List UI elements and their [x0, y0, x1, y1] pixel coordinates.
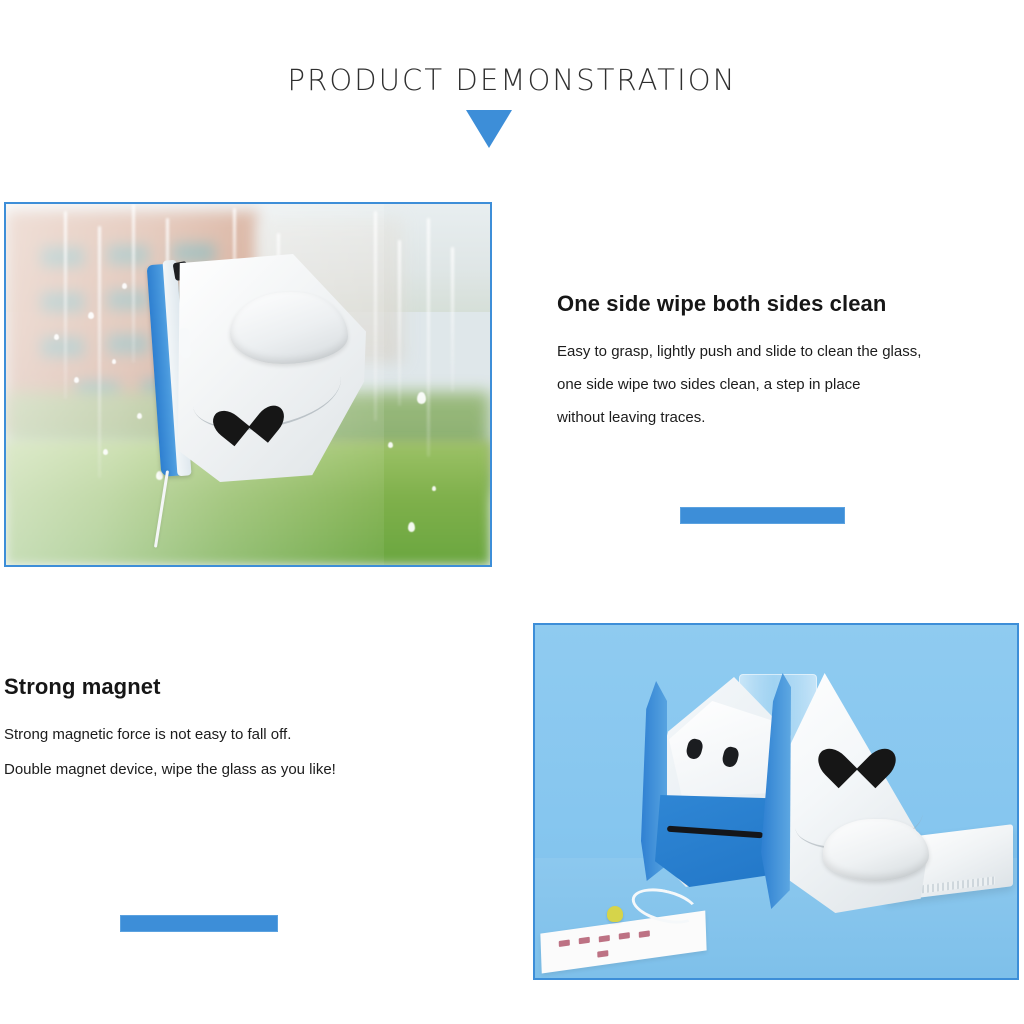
cleaner-unit-front	[757, 673, 935, 913]
triangle-down-icon	[466, 110, 512, 148]
section-body-line: Double magnet device, wipe the glass as …	[4, 761, 336, 778]
accent-bar-strong-magnet	[120, 915, 278, 932]
cord-knob	[607, 906, 623, 922]
page-header: PRODUCT DEMONSTRATION	[0, 0, 1024, 170]
heart-logo-icon	[222, 390, 274, 439]
unit-front-handle-grip	[823, 819, 929, 881]
section-body-line: one side wipe two sides clean, a step in…	[557, 376, 861, 393]
section-heading: One side wipe both sides clean	[557, 291, 1009, 317]
section-body: Strong magnetic force is not easy to fal…	[4, 718, 456, 787]
section-body: Easy to grasp, lightly push and slide to…	[557, 335, 1009, 434]
heart-logo-icon	[831, 731, 883, 779]
product-photo-wiping-window	[4, 202, 492, 567]
accent-bar-one-side-wipe	[680, 507, 845, 524]
section-body-line: Easy to grasp, lightly push and slide to…	[557, 343, 921, 360]
product-photo-double-magnet	[533, 623, 1019, 980]
device-clip	[179, 328, 191, 359]
section-heading: Strong magnet	[4, 674, 456, 700]
page-title: PRODUCT DEMONSTRATION	[0, 63, 1024, 97]
section-body-line: without leaving traces.	[557, 409, 705, 426]
window-cleaner-device	[152, 254, 367, 484]
photo-scene-rainy-window	[6, 204, 490, 565]
section-one-side-wipe: One side wipe both sides clean Easy to g…	[557, 291, 1009, 434]
section-body-line: Strong magnetic force is not easy to fal…	[4, 726, 291, 743]
section-strong-magnet: Strong magnet Strong magnetic force is n…	[4, 674, 456, 787]
photo-scene-studio-blue	[535, 625, 1017, 978]
unit-front-blue-rim	[761, 673, 791, 909]
